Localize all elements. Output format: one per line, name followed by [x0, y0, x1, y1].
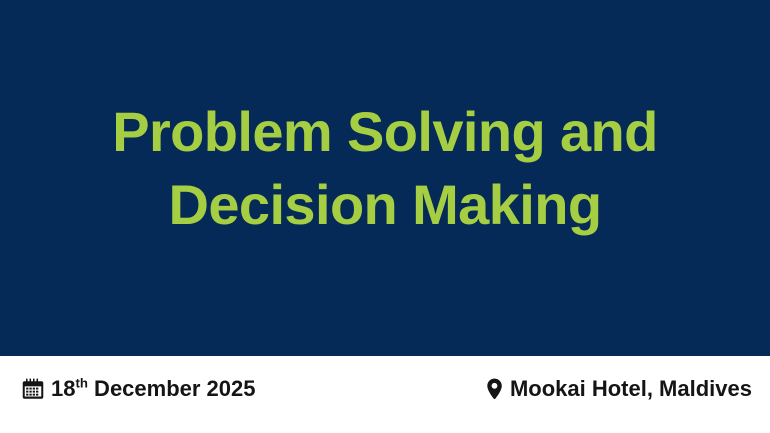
- footer-bar: 18th December 2025 Mookai Hotel, Maldive…: [0, 356, 770, 433]
- page-title-line-1: Problem Solving and: [20, 96, 750, 169]
- page-title: Problem Solving and Decision Making: [20, 96, 750, 242]
- footer-date-label: 18th December 2025: [51, 378, 256, 400]
- footer-date-month-year: December 2025: [88, 376, 256, 401]
- footer-venue-label: Mookai Hotel, Maldives: [510, 378, 752, 400]
- title-slide: Problem Solving and Decision Making: [0, 0, 770, 433]
- footer-date: 18th December 2025: [22, 378, 256, 400]
- footer-date-ordinal: th: [75, 376, 87, 391]
- hero-panel: Problem Solving and Decision Making: [0, 0, 770, 356]
- location-pin-icon: [486, 378, 503, 400]
- calendar-icon: [22, 378, 44, 400]
- page-title-line-2: Decision Making: [20, 169, 750, 242]
- footer-date-day: 18: [51, 376, 75, 401]
- footer-venue: Mookai Hotel, Maldives: [486, 378, 752, 400]
